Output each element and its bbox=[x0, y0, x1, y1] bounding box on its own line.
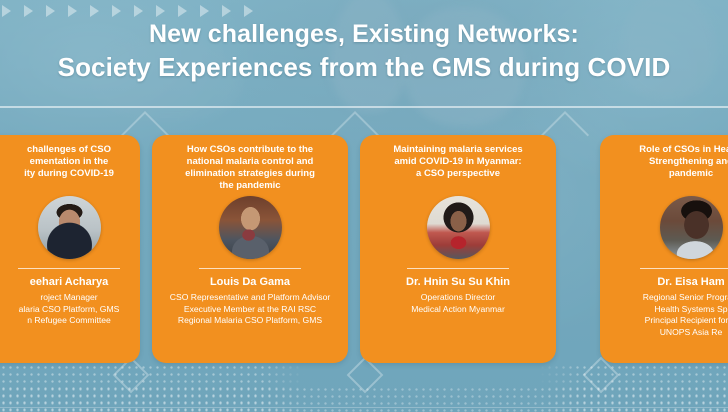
triangle-right-icon bbox=[156, 5, 165, 17]
triangle-right-icon bbox=[178, 5, 187, 17]
triangle-right-icon bbox=[90, 5, 99, 17]
speaker-portrait-icon bbox=[427, 196, 490, 259]
speaker-card[interactable]: Maintaining malaria services amid COVID-… bbox=[360, 135, 556, 363]
speaker-portrait-icon bbox=[219, 196, 282, 259]
speaker-role: Regional Senior Program Health Systems S… bbox=[643, 292, 728, 338]
footer-divider bbox=[0, 407, 728, 408]
presentation-slide: New challenges, Existing Networks: Socie… bbox=[0, 0, 728, 412]
triangle-right-icon bbox=[24, 5, 33, 17]
slide-title-line-2: Society Experiences from the GMS during … bbox=[0, 51, 728, 84]
card-topic: challenges of CSO ementation in the ity … bbox=[24, 144, 114, 192]
speaker-portrait-icon bbox=[38, 196, 101, 259]
card-divider bbox=[640, 268, 728, 269]
triangle-right-icon bbox=[2, 5, 11, 17]
card-divider bbox=[407, 268, 509, 269]
slide-title-line-1: New challenges, Existing Networks: bbox=[0, 18, 728, 51]
triangle-right-icon bbox=[112, 5, 121, 17]
card-topic: How CSOs contribute to the national mala… bbox=[185, 144, 315, 192]
speaker-card[interactable]: Role of CSOs in Health Strengthening and… bbox=[600, 135, 728, 363]
speaker-role: roject Manager alaria CSO Platform, GMS … bbox=[19, 292, 120, 327]
triangle-right-icon bbox=[68, 5, 77, 17]
speaker-name: Dr. Eisa Ham bbox=[657, 276, 724, 289]
triangle-right-icon bbox=[222, 5, 231, 17]
triangle-right-icon bbox=[244, 5, 253, 17]
triangle-right-icon bbox=[46, 5, 55, 17]
speaker-portrait-icon bbox=[660, 196, 723, 259]
speaker-role: CSO Representative and Platform Advisor … bbox=[170, 292, 331, 327]
card-divider bbox=[199, 268, 301, 269]
card-divider bbox=[18, 268, 120, 269]
speaker-name: Dr. Hnin Su Su Khin bbox=[406, 276, 510, 289]
speaker-card[interactable]: challenges of CSO ementation in the ity … bbox=[0, 135, 140, 363]
speaker-name: Louis Da Gama bbox=[210, 276, 290, 289]
dot-pattern-band-lower bbox=[0, 386, 728, 412]
speaker-role: Operations Director Medical Action Myanm… bbox=[411, 292, 505, 315]
triangle-right-icon bbox=[134, 5, 143, 17]
card-topic: Role of CSOs in Health Strengthening and… bbox=[639, 144, 728, 192]
dot-pattern-band bbox=[0, 364, 728, 412]
triangle-right-icon bbox=[200, 5, 209, 17]
speaker-card-row: challenges of CSO ementation in the ity … bbox=[0, 135, 728, 363]
card-topic: Maintaining malaria services amid COVID-… bbox=[393, 144, 522, 192]
slide-header: New challenges, Existing Networks: Socie… bbox=[0, 18, 728, 106]
header-divider bbox=[0, 106, 728, 108]
speaker-card[interactable]: How CSOs contribute to the national mala… bbox=[152, 135, 348, 363]
speaker-name: eehari Acharya bbox=[30, 276, 108, 289]
